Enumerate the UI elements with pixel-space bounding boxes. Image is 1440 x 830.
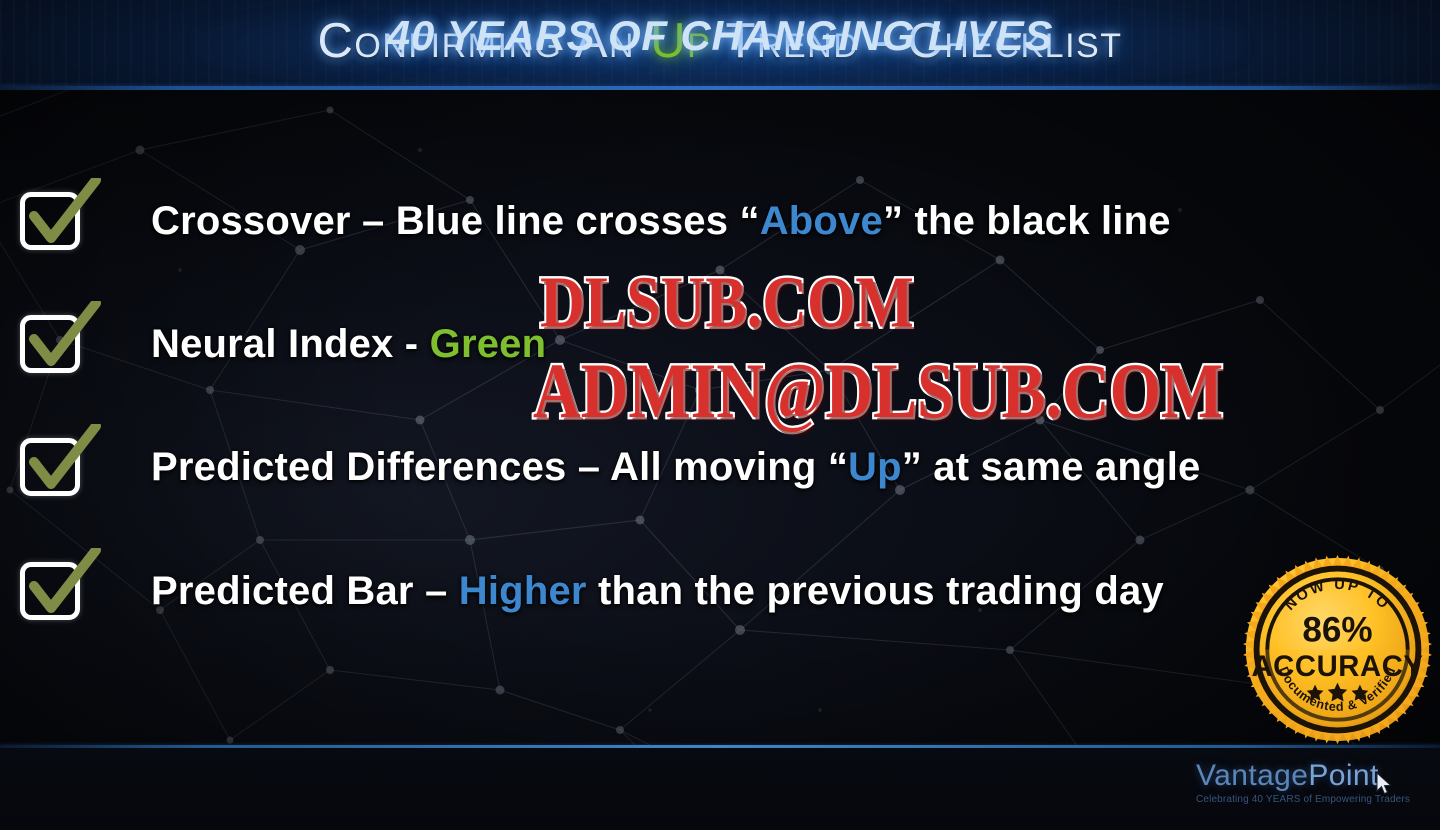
vantagepoint-logo[interactable]: VantagePoint Celebrating 40 YEARS of Emp… bbox=[1196, 760, 1434, 820]
text-accent: Up bbox=[848, 445, 902, 489]
text-segment-2: ” at same angle bbox=[902, 445, 1201, 489]
checklist-item[interactable]: Neural Index - Green bbox=[0, 308, 1300, 380]
checklist: Crossover – Blue line crosses “Above” th… bbox=[0, 90, 1440, 747]
checklist-item-text: Neural Index - Green bbox=[151, 321, 546, 367]
text-segment: Predicted Bar – bbox=[151, 569, 459, 613]
accuracy-badge: NOW UP TO 86% ACCURACY Documented & Veri… bbox=[1240, 552, 1435, 747]
text-accent: Above bbox=[760, 199, 883, 243]
checkmark-icon bbox=[18, 301, 102, 377]
logo-name-part1: Vantage bbox=[1196, 759, 1308, 792]
checklist-item-text: Predicted Bar – Higher than the previous… bbox=[151, 568, 1164, 614]
text-accent: Higher bbox=[459, 569, 587, 613]
checkmark-icon bbox=[18, 178, 102, 254]
checkbox-checked-icon[interactable] bbox=[20, 315, 80, 373]
mouse-cursor-icon bbox=[1376, 772, 1394, 796]
checkmark-icon bbox=[18, 548, 102, 624]
checklist-item[interactable]: Predicted Bar – Higher than the previous… bbox=[0, 555, 1300, 627]
checklist-item[interactable]: Predicted Differences – All moving “Up” … bbox=[0, 431, 1300, 503]
text-accent: Green bbox=[430, 322, 547, 366]
checklist-item[interactable]: Crossover – Blue line crosses “Above” th… bbox=[0, 185, 1300, 257]
checkbox-checked-icon[interactable] bbox=[20, 192, 80, 250]
checkmark-icon bbox=[18, 424, 102, 500]
slide-root: Confirming An Up Trend - Checklist bbox=[0, 0, 1440, 830]
logo-subtitle: Celebrating 40 YEARS of Empowering Trade… bbox=[1196, 794, 1434, 806]
text-segment-2: ” the black line bbox=[883, 199, 1171, 243]
footer-tagline: 40 YEARS OF CHANGING LIVES bbox=[0, 8, 1440, 64]
checklist-item-text: Crossover – Blue line crosses “Above” th… bbox=[151, 198, 1171, 244]
text-segment: Predicted Differences – All moving “ bbox=[151, 445, 848, 489]
badge-percent: 86% bbox=[1302, 611, 1372, 650]
logo-name: VantagePoint bbox=[1196, 760, 1434, 792]
badge-main-text: ACCURACY bbox=[1251, 651, 1423, 683]
accuracy-badge-graphic: NOW UP TO 86% ACCURACY Documented & Veri… bbox=[1240, 552, 1435, 747]
text-segment: Neural Index - bbox=[151, 322, 430, 366]
checkbox-checked-icon[interactable] bbox=[20, 562, 80, 620]
checkbox-checked-icon[interactable] bbox=[20, 438, 80, 496]
text-segment: Crossover – Blue line crosses “ bbox=[151, 199, 760, 243]
logo-name-part2: Point bbox=[1308, 759, 1378, 792]
text-segment-2: than the previous trading day bbox=[587, 569, 1164, 613]
checklist-item-text: Predicted Differences – All moving “Up” … bbox=[151, 444, 1200, 490]
